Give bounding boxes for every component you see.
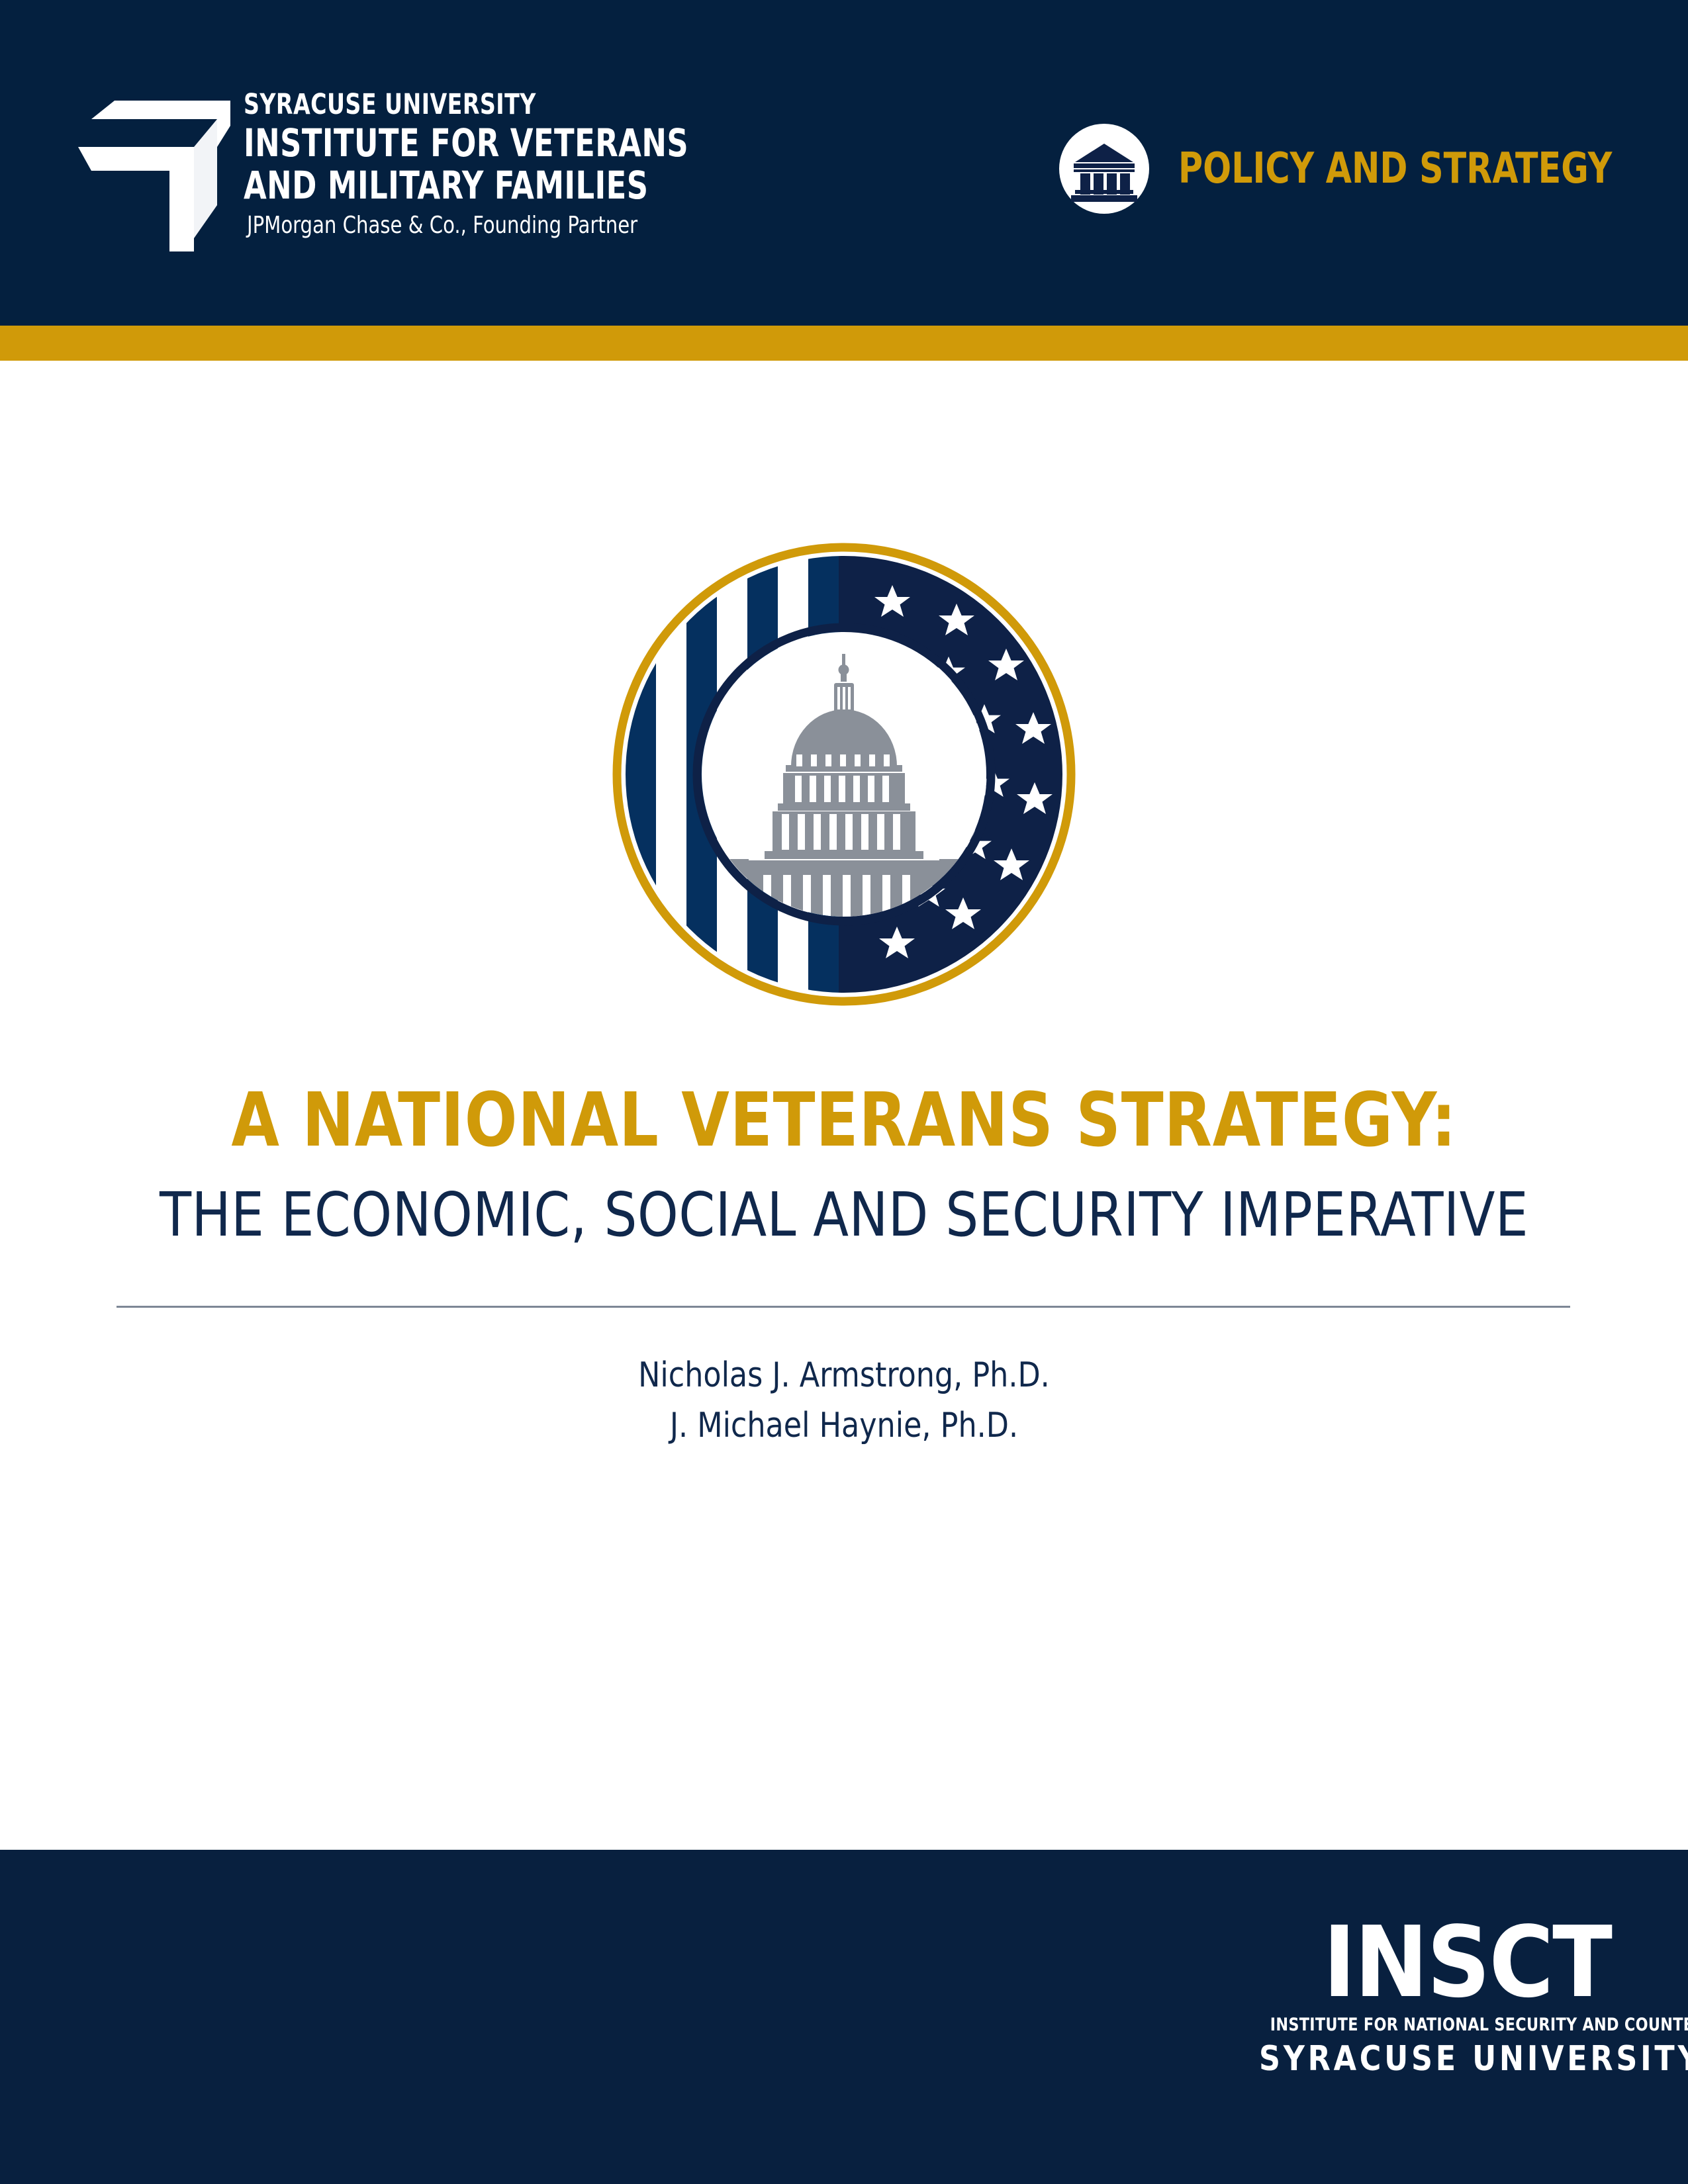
ivmf-line-institute: INSTITUTE FOR VETERANS [244, 122, 688, 164]
ivmf-line-university: SYRACUSE UNIVERSITY [244, 87, 688, 122]
policy-and-strategy-label: POLICY AND STRATEGY [1178, 148, 1612, 190]
insct-logo: INSCT INSTITUTE FOR NATIONAL SECURITY AN… [1241, 1913, 1611, 2079]
insct-acronym: INSCT [1241, 1913, 1611, 2012]
us-capitol-flag-seal-icon [606, 536, 1082, 1013]
ivmf-wordmark: SYRACUSE UNIVERSITY INSTITUTE FOR VETERA… [244, 87, 760, 241]
ivmf-chevron-mark-icon [78, 73, 230, 251]
insct-university-name: SYRACUSE UNIVERSITY [1259, 2038, 1611, 2079]
authors-block: Nicholas J. Armstrong, Ph.D. J. Michael … [0, 1350, 1688, 1451]
ivmf-logo-lockup: SYRACUSE UNIVERSITY INSTITUTE FOR VETERA… [78, 73, 806, 258]
classical-building-icon [1059, 124, 1149, 214]
gold-accent-rule [0, 326, 1688, 361]
ivmf-founding-partner-tagline: JPMorgan Chase & Co., Founding Partner [247, 210, 709, 241]
policy-and-strategy-badge: POLICY AND STRATEGY [1059, 122, 1671, 215]
author-name: Nicholas J. Armstrong, Ph.D. [42, 1350, 1646, 1400]
author-name: J. Michael Haynie, Ph.D. [42, 1400, 1646, 1451]
page-title-subtitle: THE ECONOMIC, SOCIAL AND SECURITY IMPERA… [42, 1179, 1646, 1251]
page-title-main: A NATIONAL VETERANS STRATEGY: [59, 1079, 1629, 1162]
ivmf-line-families: AND MILITARY FAMILIES [244, 164, 688, 206]
title-block: A NATIONAL VETERANS STRATEGY: THE ECONOM… [0, 1079, 1688, 1251]
insct-full-name: INSTITUTE FOR NATIONAL SECURITY AND COUN… [1270, 2012, 1611, 2038]
title-divider-rule [117, 1306, 1570, 1308]
